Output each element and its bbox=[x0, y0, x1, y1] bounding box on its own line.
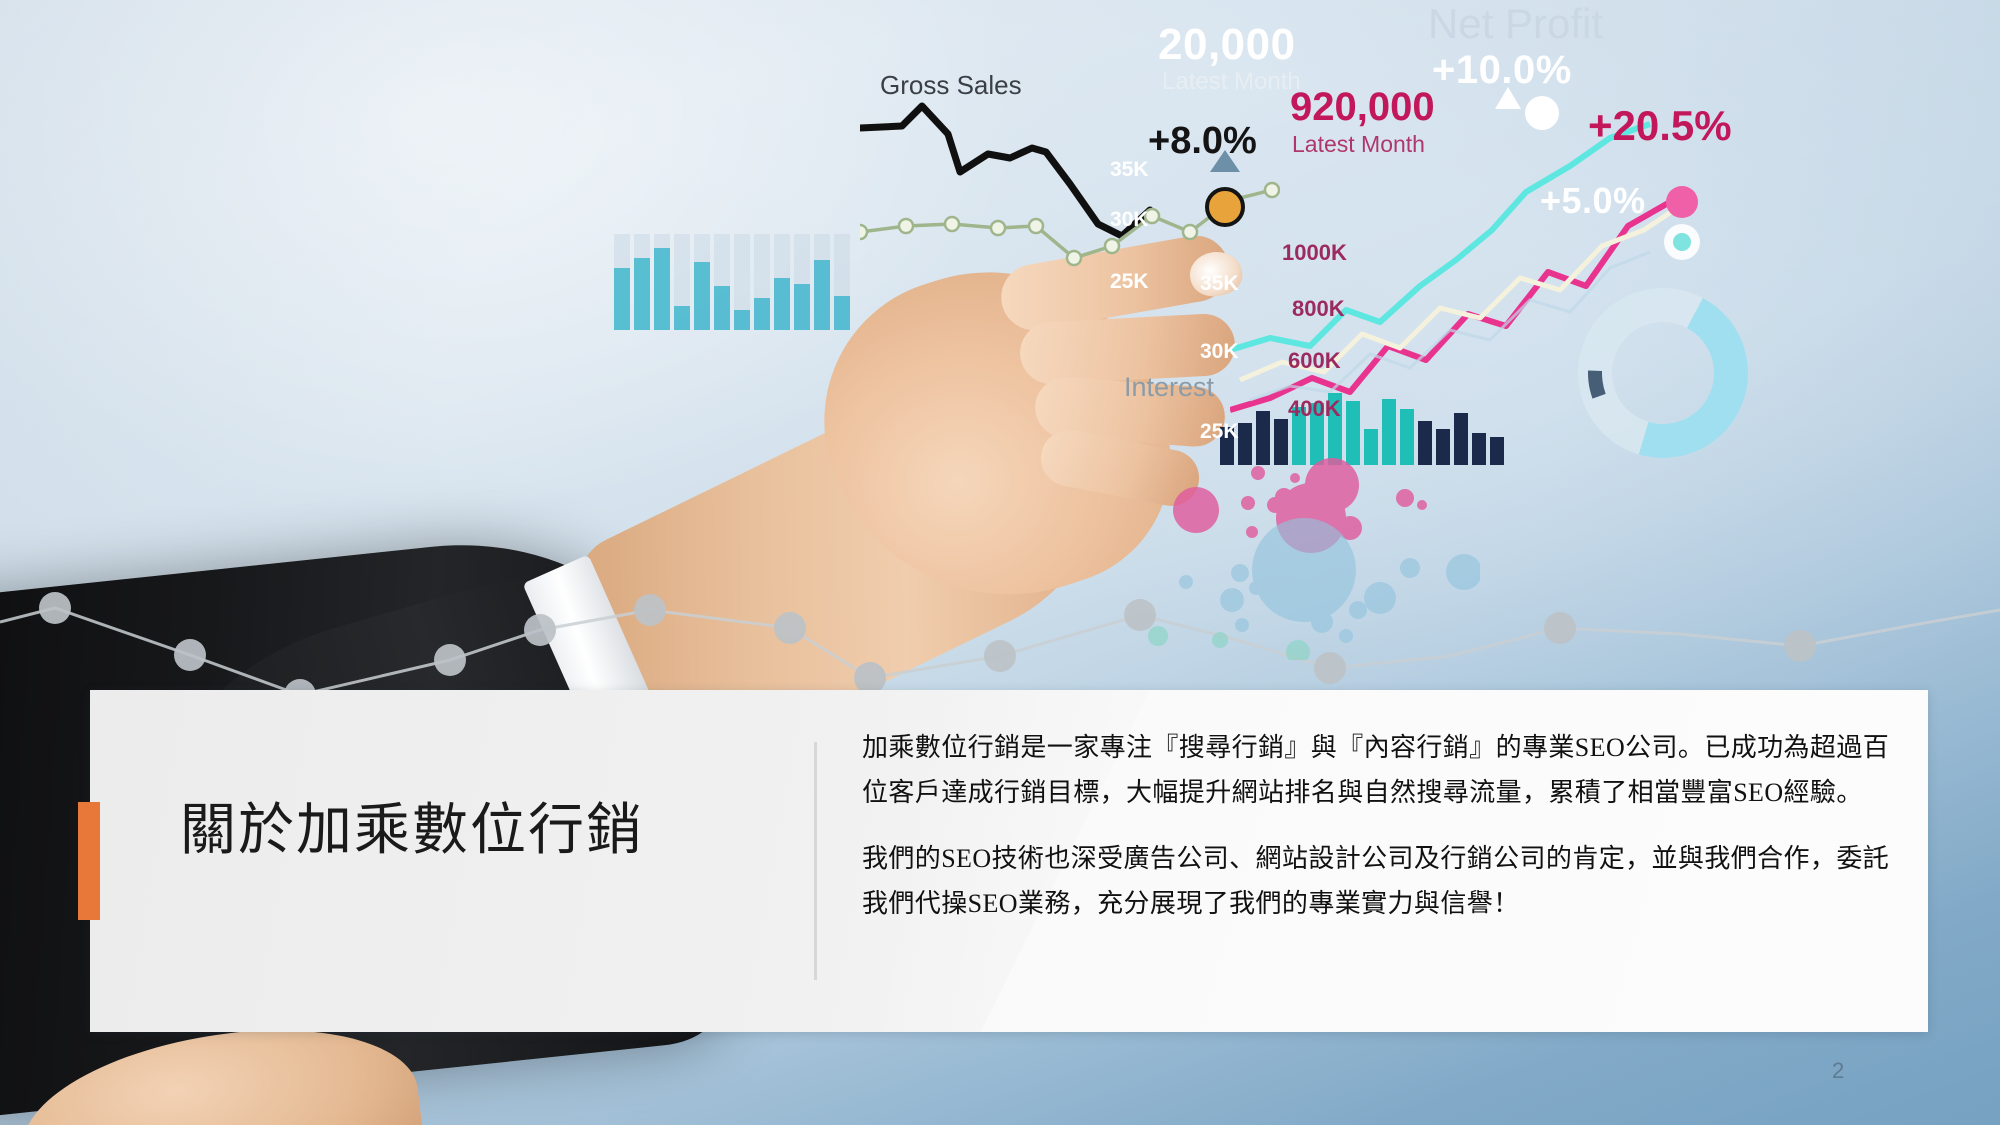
sales-tick-35k: 35K bbox=[1110, 158, 1149, 182]
body-paragraph-1: 加乘數位行銷是一家專注『搜尋行銷』與『內容行銷』的專業SEO公司。已成功為超過百… bbox=[862, 726, 1902, 815]
net-profit-label: Net Profit bbox=[1428, 0, 1603, 48]
bubble-cluster bbox=[1060, 440, 1480, 660]
page-number: 2 bbox=[1832, 1058, 1844, 1084]
interest-tick-25k: 25K bbox=[1200, 420, 1239, 444]
revenue-tick-1000k: 1000K bbox=[1282, 240, 1347, 266]
gross-sales-value: 20,000 bbox=[1158, 20, 1296, 70]
accent-bar bbox=[78, 802, 100, 920]
revenue-caption: Latest Month bbox=[1292, 131, 1425, 158]
interest-tick-35k: 35K bbox=[1200, 272, 1239, 296]
body-text: 加乘數位行銷是一家專注『搜尋行銷』與『內容行銷』的專業SEO公司。已成功為超過百… bbox=[862, 726, 1902, 927]
net-profit-donut bbox=[1568, 278, 1758, 468]
sales-tick-30k: 30K bbox=[1110, 208, 1149, 232]
gross-sales-delta: +8.0% bbox=[1148, 120, 1257, 163]
net-profit-delta: +10.0% bbox=[1432, 48, 1572, 93]
left-bar-chart bbox=[612, 228, 862, 338]
interest-tick-30k: 30K bbox=[1200, 340, 1239, 364]
gross-sales-caption: Latest Month bbox=[1162, 68, 1301, 96]
gross-sales-label: Gross Sales bbox=[880, 70, 1022, 101]
sales-tick-25k: 25K bbox=[1110, 270, 1149, 294]
revenue-tick-400k: 400K bbox=[1288, 396, 1341, 422]
page-title: 關於加乘數位行銷 bbox=[180, 796, 760, 866]
revenue-tick-600k: 600K bbox=[1288, 348, 1341, 374]
body-paragraph-2: 我們的SEO技術也深受廣告公司、網站設計公司及行銷公司的肯定，並與我們合作，委託… bbox=[862, 837, 1902, 926]
vertical-divider bbox=[814, 742, 817, 980]
secondary-delta: +5.0% bbox=[1540, 180, 1646, 222]
revenue-value: 920,000 bbox=[1290, 85, 1435, 130]
interest-label: Interest bbox=[1124, 372, 1214, 403]
slide: Gross Sales 20,000 Latest Month +8.0% Ne… bbox=[0, 0, 2000, 1125]
revenue-tick-800k: 800K bbox=[1292, 296, 1345, 322]
revenue-delta: +20.5% bbox=[1588, 102, 1732, 150]
